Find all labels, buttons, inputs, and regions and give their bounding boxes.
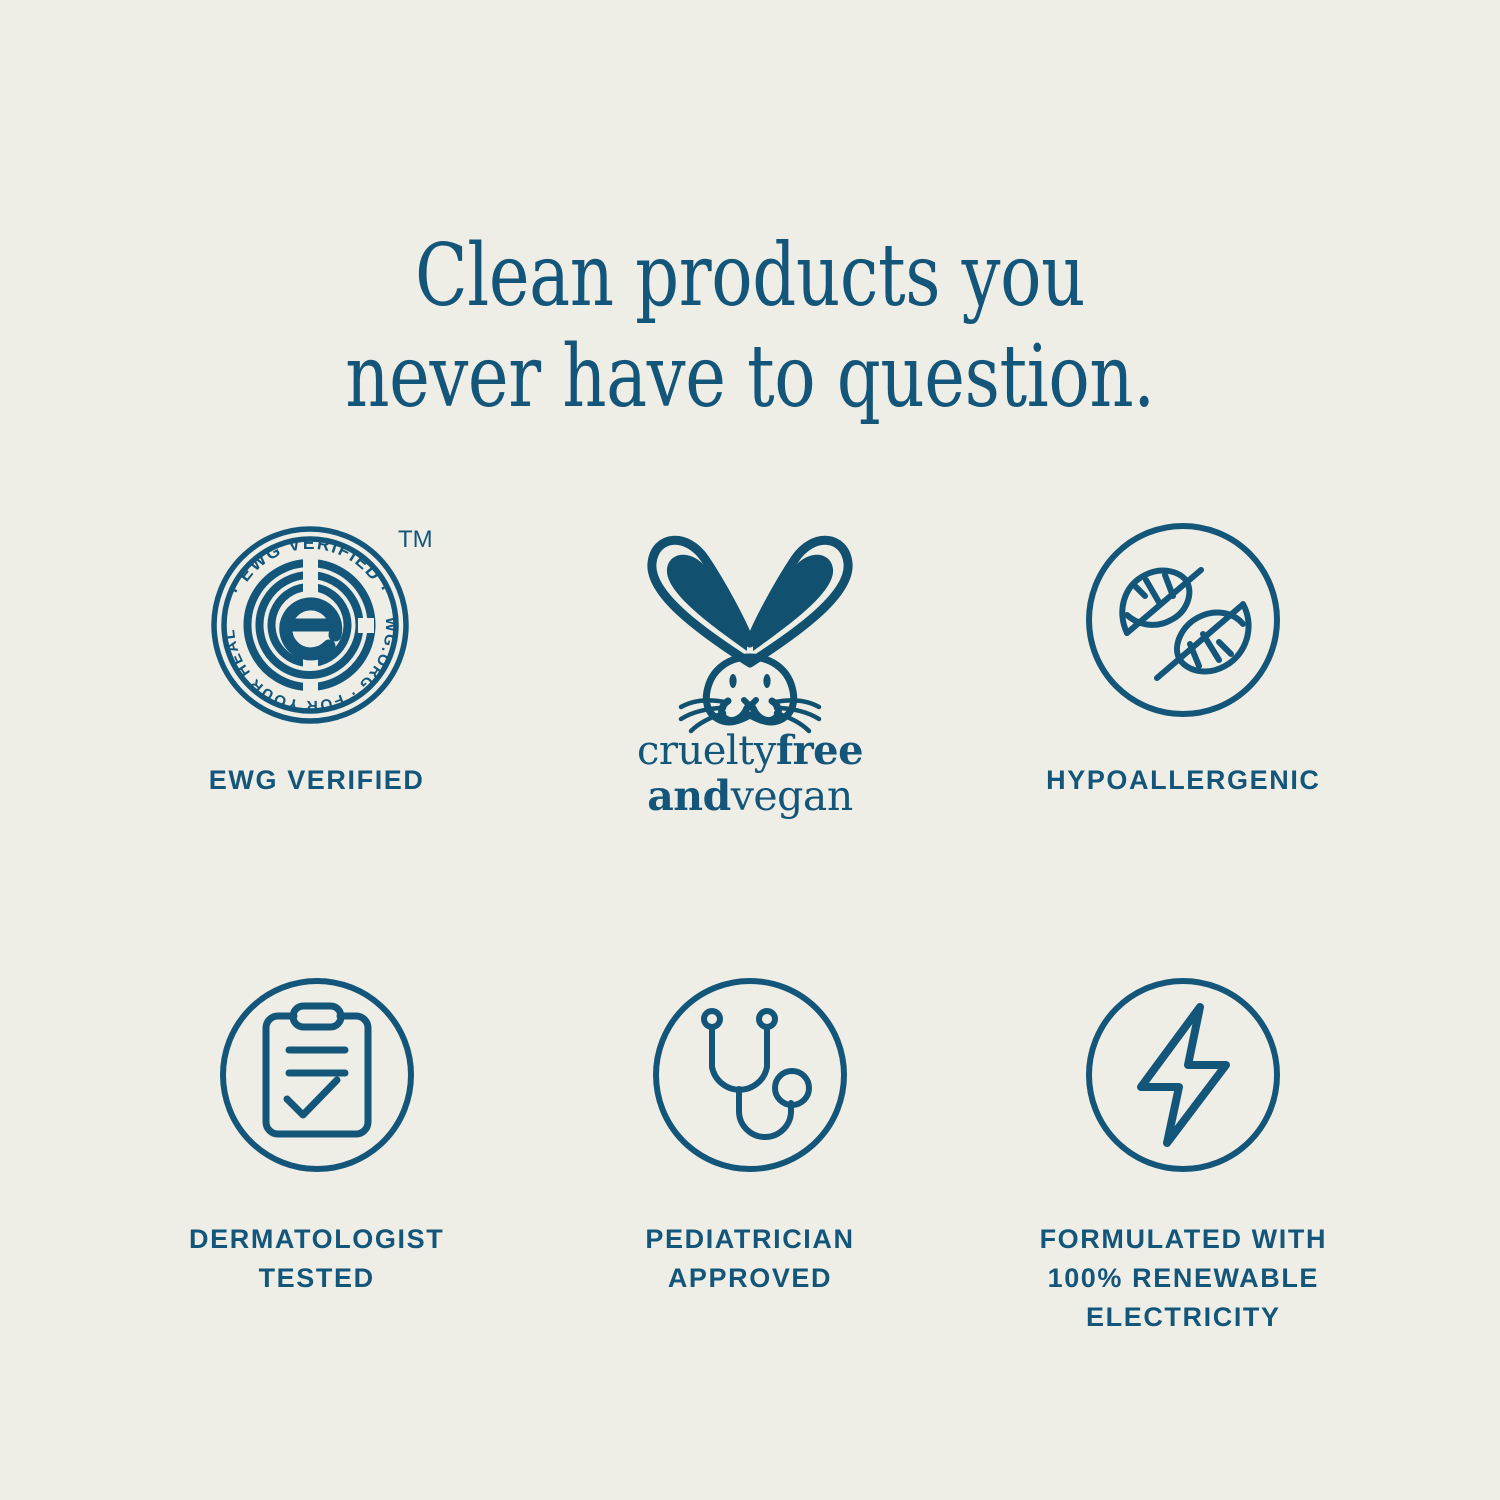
page-headline: Clean products you never have to questio… [150,226,1350,429]
bunny-icon-wrap [625,505,875,735]
badge-label-ewg-verified: EWG VERIFIED [209,761,425,800]
badge-hypoallergenic: HYPOALLERGENIC [967,505,1400,820]
marketing-badges-page: Clean products you never have to questio… [0,0,1500,1500]
badge-cruelty-free: crueltyfree andvegan [533,505,966,820]
ewg-trademark-text: TM [398,526,432,553]
wordmark-vegan: vegan [731,772,853,820]
badge-label-renewable-electricity: FORMULATED WITH 100% RENEWABLE ELECTRICI… [1040,1220,1327,1337]
wordmark-and: and [647,772,731,820]
wordmark-free: free [776,727,863,774]
cruelty-free-bunny-icon [625,505,875,735]
badge-dermatologist-tested: DERMATOLOGIST TESTED [100,960,533,1337]
ewg-icon-wrap: · EWG VERIFIED · EWG.ORG · FOR YOUR HEAL… [202,505,432,735]
stethoscope-icon [650,975,850,1175]
clipboard-check-icon [217,975,417,1175]
ewg-verified-seal-icon: · EWG VERIFIED · EWG.ORG · FOR YOUR HEAL… [202,513,432,728]
badge-ewg-verified: · EWG VERIFIED · EWG.ORG · FOR YOUR HEAL… [100,505,533,820]
badge-label-dermatologist-tested: DERMATOLOGIST TESTED [189,1220,444,1298]
badge-pediatrician-approved: PEDIATRICIAN APPROVED [533,960,966,1337]
wordmark-cruelty: cruelty [637,728,776,774]
cruelty-free-wordmark: crueltyfree andvegan [637,729,863,820]
badge-renewable-electricity: FORMULATED WITH 100% RENEWABLE ELECTRICI… [967,960,1400,1337]
badge-grid: · EWG VERIFIED · EWG.ORG · FOR YOUR HEAL… [100,505,1400,1337]
lightning-bolt-icon [1083,975,1283,1175]
feathers-icon [1083,520,1283,720]
feathers-icon-wrap [1083,505,1283,735]
badge-label-hypoallergenic: HYPOALLERGENIC [1046,761,1320,800]
stethoscope-icon-wrap [650,960,850,1190]
bolt-icon-wrap [1083,960,1283,1190]
badge-label-pediatrician-approved: PEDIATRICIAN APPROVED [645,1220,854,1298]
clipboard-icon-wrap [217,960,417,1190]
